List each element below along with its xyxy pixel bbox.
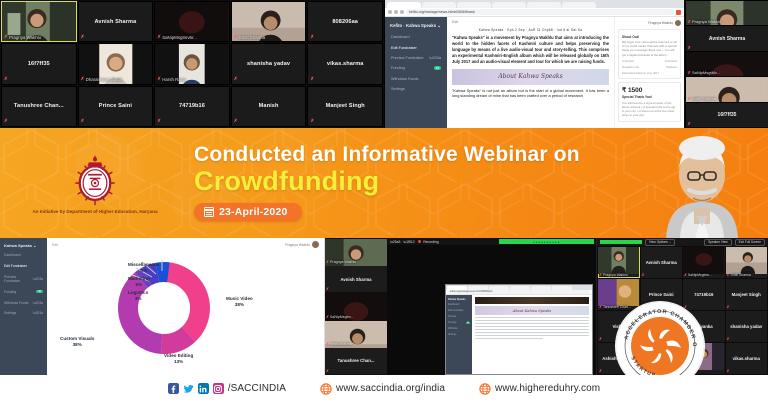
recording-indicator[interactable]: Recording: [418, 240, 439, 244]
participant-tile[interactable]: ✗ Pragnya Wakhlu: [598, 247, 640, 278]
participant-tile[interactable]: ✗ Dharamveer Singh: [78, 43, 154, 84]
view-options-button[interactable]: View Options ⌄: [645, 239, 675, 246]
fundraiser-content: Edit Kahwa Speaks · Eph 2 Sep · AoR 31 C…: [447, 17, 614, 128]
webinar-banner: An Initiative by Department of Higher Ed…: [0, 128, 768, 238]
about-banner-caption: About Kahwa Speaks: [513, 309, 552, 313]
chart-label-music-video: Music Video 38%: [226, 296, 253, 308]
sidebar-item-preview-fundraiser[interactable]: Preview Fundraiser\u203a: [385, 53, 447, 63]
participant-name: Prince Saini: [97, 103, 134, 109]
sidebar-brand[interactable]: Kefito · Kahwa Speaks ⌄: [385, 20, 447, 32]
dashboard-content: Edit Pragnya Wakhlu: [47, 238, 324, 375]
reward-body: You will become a signed poster of the a…: [622, 101, 677, 118]
fundraiser-sidebar: Kefito · Kahwa Speaks ⌄ Dashboard Edit F…: [385, 17, 447, 128]
top-screenshot-strip: ✗ Pragnya Wakhlu Avnish Sharma ✗ ✗ SaNip…: [0, 0, 768, 128]
mute-icon: ✗: [310, 34, 314, 40]
browser-tab[interactable]: [387, 2, 421, 9]
crowdfunding-browser-screenshot: kefito.org/manage/news-htmlri/508/6hash …: [384, 0, 684, 128]
reward-eta: Estimated Delivery July 2017: [622, 71, 659, 75]
sidebar-item-label: Funding: [391, 66, 405, 70]
account-menu[interactable]: Pragnya Wakhlu: [618, 20, 681, 26]
participant-name: Avnish Sharma: [92, 19, 138, 25]
sidebar-item-label: Withdraw: [448, 328, 458, 330]
participant-name: 74719b16: [177, 103, 207, 109]
participant-name: Avnish Sharma: [645, 260, 678, 265]
sidebar-item-label: Dashboard: [4, 253, 21, 257]
about-banner-image: About Kahwa Speaks: [475, 306, 589, 315]
mute-icon: ✗: [157, 118, 161, 124]
browser-address-bar[interactable]: kefito.org/manage/news-htmlri/508/6hash: [385, 8, 684, 17]
mute-icon: ✗: [599, 369, 602, 373]
participant-tile[interactable]: 16f7ff35 ✗: [1, 43, 77, 84]
url-input[interactable]: kefito.org/manage/news-htmlri/508/6hash: [406, 9, 674, 15]
about-banner-image: About Kahwa Speaks: [452, 69, 609, 85]
funding-badge: 38: [466, 322, 470, 324]
mute-icon: ✗: [727, 273, 730, 277]
linkedin-icon[interactable]: [198, 383, 209, 394]
mute-icon: ✗: [81, 118, 85, 124]
sidebar-item-label: Withdraw Funds: [391, 77, 418, 81]
sidebar-item-label: Funding: [4, 290, 16, 294]
participant-name: Pragnya Wakhlu: [9, 35, 41, 40]
edit-link[interactable]: Edit: [52, 243, 58, 247]
participant-name: Smiti Sharma: [692, 96, 716, 101]
shared-page-content: About Kahwa Speaks: [472, 295, 592, 375]
chart-label-text: Marketing: [128, 276, 150, 281]
date-pill: 23-April-2020: [194, 203, 302, 221]
participant-tile[interactable]: vikas.sharma ✗: [726, 343, 768, 374]
sidebar-item-withdraw-funds[interactable]: Withdraw Funds: [385, 74, 447, 84]
social-group: /SACCINDIA: [168, 383, 286, 394]
mute-icon: ✗: [234, 118, 238, 124]
participant-name: Pragnya Wakhlu: [603, 273, 628, 277]
mute-icon: ✗: [310, 76, 314, 82]
mute-icon: ✗: [81, 76, 85, 82]
chart-label-pct: 5%: [128, 282, 150, 288]
participant-name: Tanushree Chan...: [12, 103, 66, 109]
reward-left-label: Unlimited: [622, 59, 634, 63]
mute-icon: ✗: [599, 273, 602, 277]
participant-name: SaNipMsgtmv6r...: [162, 35, 197, 40]
about-banner-caption: About Kahwa Speaks: [498, 73, 562, 80]
mute-icon: ✗: [157, 76, 161, 82]
webinar-date: 23-April-2020: [219, 206, 288, 218]
zoom-participant-grid-top: ✗ Pragnya Wakhlu Avnish Sharma ✗ ✗ SaNip…: [0, 0, 384, 128]
website-group-1: www.saccindia.org/india: [320, 383, 445, 395]
funding-badge: 38: [434, 66, 441, 70]
banner-text-block: Conducted an Informative Webinar on Crow…: [190, 144, 636, 222]
chart-label-miscellaneous: Miscellaneous 5%: [128, 262, 159, 274]
mute-icon: ✗: [326, 315, 329, 319]
participant-tile[interactable]: ✗ Smiti Sharma: [231, 1, 307, 42]
sidebar-item-label: Funding: [448, 322, 456, 324]
website-link-2[interactable]: www.highereduhry.com: [495, 383, 600, 394]
instagram-icon[interactable]: [213, 383, 224, 394]
chart-label-text: Custom Visuals: [60, 336, 94, 341]
sidebar-item-label: Settings: [4, 311, 16, 315]
mute-icon: ✗: [688, 121, 691, 126]
participant-tile[interactable]: ✗ SaNipMsgtmv6r...: [154, 1, 230, 42]
chart-label-pct: 5%: [128, 268, 159, 274]
participant-name: Prince Saini: [648, 292, 675, 297]
mute-icon: ✗: [599, 337, 602, 341]
sidebar-item-preview-fundraiser[interactable]: Preview Fundraiser\u203a: [0, 272, 47, 287]
sidebar-item-label: Preview Fundraiser: [391, 56, 424, 60]
mute-icon: ✗: [234, 76, 238, 82]
participant-tile[interactable]: 16f7ff35 ✗: [686, 103, 768, 127]
reward-title: Special Thank You!: [622, 95, 677, 99]
account-menu[interactable]: Pragnya Wakhlu: [285, 241, 319, 248]
chart-label-custom-visuals: Custom Visuals 38%: [60, 336, 94, 348]
browser-tab[interactable]: [457, 2, 491, 9]
mute-icon: ✗: [326, 342, 329, 346]
reward-left-value: Rewards Left: [622, 65, 639, 69]
participant-name: SaNipMsgtm...: [330, 315, 354, 319]
sidebar-item-dashboard[interactable]: Dashboard: [0, 250, 47, 261]
participant-name: vikas.sharma: [732, 356, 761, 361]
banner-line-1: Conducted an Informative Webinar on: [194, 144, 636, 166]
participant-tile[interactable]: ✗ SaNipMsgtMv...: [686, 52, 768, 76]
chart-label-logistics: Logistics 3%: [128, 290, 148, 302]
participant-name: Manjeet Singh: [324, 103, 367, 109]
participant-name: Tanushree Chan...: [338, 358, 375, 363]
participant-name: Manjeet Singh: [731, 292, 762, 297]
participant-tile[interactable]: 74719b16 ✗: [154, 86, 230, 127]
browser-tab-bar[interactable]: [446, 285, 592, 290]
participant-tile[interactable]: Avnish Sharma ✗: [325, 266, 387, 292]
social-handle[interactable]: /SACCINDIA: [228, 383, 286, 394]
participant-tile[interactable]: Manish ✗: [231, 86, 307, 127]
extension-icon[interactable]: [676, 10, 681, 15]
lock-icon: \u1f512: [403, 240, 414, 244]
share-indicator: \u25a3: [390, 240, 400, 244]
sidebar-item-settings[interactable]: Settings: [385, 84, 447, 94]
mute-icon: ✗: [642, 273, 645, 277]
avatar: [312, 241, 319, 248]
reward-card[interactable]: Shout Out! Big hugs! Your name will be f…: [618, 29, 681, 79]
mute-icon: ✗: [310, 118, 314, 124]
mute-icon: ✗: [4, 76, 8, 82]
chart-label-text: Video Editing: [164, 353, 193, 358]
participant-tile[interactable]: ✗ SaNipMsgtmv...: [683, 247, 725, 278]
sidebar-item-funding[interactable]: Funding38: [0, 286, 47, 297]
participant-name: Dharamveer Singh: [86, 77, 123, 82]
browser-tab[interactable]: [422, 2, 456, 9]
mute-icon: ✗: [157, 34, 161, 40]
mute-icon: ✗: [4, 118, 8, 124]
facebook-icon[interactable]: [168, 383, 179, 394]
participant-tile[interactable]: Manjeet Singh ✗: [726, 279, 768, 310]
participant-tile[interactable]: ✗ Harsh Rana: [154, 43, 230, 84]
back-icon[interactable]: [388, 10, 392, 14]
participant-name: Pragnya Wakhlu: [330, 260, 356, 264]
budget-donut-chart: Miscellaneous 5% Marketing 5% Logistics …: [52, 248, 319, 366]
globe-icon: [320, 383, 332, 395]
mute-icon: ✗: [727, 369, 730, 373]
participant-name: SaNipMsgtmv...: [688, 273, 712, 277]
hero-image: [475, 297, 589, 304]
mute-icon: ✗: [688, 45, 691, 50]
sidebar-item-settings[interactable]: Settings\u203a: [0, 308, 47, 319]
participant-name: Manish: [257, 103, 281, 109]
banner-line-2: Crowdfunding: [194, 167, 636, 197]
mute-icon: ✗: [684, 273, 687, 277]
forward-icon[interactable]: [394, 10, 398, 14]
participant-name: Smiti Sharma: [239, 35, 265, 40]
participant-name: vikas.sharma: [325, 61, 366, 67]
participant-tile[interactable]: 808206aa ✗: [307, 1, 383, 42]
sidebar-item-label: Edit Fundraiser: [391, 46, 417, 50]
webinar-collage: ✗ Pragnya Wakhlu Avnish Sharma ✗ ✗ SaNip…: [0, 0, 768, 402]
participant-name: shanisha yadav: [245, 61, 292, 67]
sidebar-item-settings[interactable]: Settings: [446, 332, 472, 338]
participant-name: 74719b16: [693, 292, 714, 297]
document-header: Kahwa Speaks · Eph 2 Sep · AoR 31 Chp68 …: [452, 28, 609, 32]
funding-badge: 38: [36, 290, 43, 293]
browser-tab[interactable]: [492, 2, 526, 9]
mute-icon: ✗: [326, 287, 329, 291]
participant-tile[interactable]: ✗ Smiti Sharma: [325, 321, 387, 347]
edit-link[interactable]: Edit: [452, 20, 609, 24]
haryana-crest-block: An Initiative by Department of Higher Ed…: [0, 150, 190, 215]
fundraiser-sidebar: Kahwa Speaks Dashboard Edit Fundraiser P…: [446, 295, 472, 375]
participant-name: Harsh Rana: [162, 77, 185, 82]
globe-icon: [479, 383, 491, 395]
participant-name: Smiti Sharma: [330, 342, 352, 346]
mute-icon: ✗: [81, 34, 85, 40]
record-dot-icon: [418, 240, 422, 244]
reload-icon[interactable]: [400, 10, 404, 14]
participant-name: Avnish Sharma: [709, 36, 745, 42]
twitter-icon[interactable]: [183, 383, 194, 394]
screenshare-side-tiles: ✗ Pragnya Wakhlu Avnish Sharma ✗ ✗ SaNip…: [325, 238, 387, 375]
participant-tile[interactable]: ✗ Pragnya Wakhlu: [1, 1, 77, 42]
account-name: Pragnya Wakhlu: [648, 21, 673, 25]
body-text-lines: [475, 317, 589, 339]
sidebar-item-edit-fundraiser[interactable]: Edit Fundraiser: [0, 261, 47, 272]
participant-tile[interactable]: Avnish Sharma ✗: [78, 1, 154, 42]
sidebar-item-label: Edit Fundraiser: [4, 264, 27, 268]
participant-name: Smiti Sharma: [731, 273, 751, 277]
zoom-top-toolbar[interactable]: View Options ⌄ Speaker View Exit Full Sc…: [597, 238, 768, 246]
participant-name: shanisha yadav: [729, 324, 763, 329]
sidebar-item-label: Dashboard: [448, 304, 459, 306]
mute-icon: ✗: [727, 337, 730, 341]
website-group-2: www.highereduhry.com: [479, 383, 600, 395]
participant-tile[interactable]: Tanushree Chan... ✗: [325, 348, 387, 374]
rewards-column: Pragnya Wakhlu Shout Out! Big hugs! Your…: [614, 17, 684, 128]
chart-label-text: Miscellaneous: [128, 262, 159, 267]
zoom-sidebar-tiles-top: ✗ Pragnya Wakhlu Avnish Sharma ✗ ✗ SaNip…: [684, 0, 768, 128]
participant-tile[interactable]: shanisha yadav ✗: [231, 43, 307, 84]
reward-title: Shout Out!: [622, 35, 677, 39]
participant-name: SaNipMsgtMv...: [692, 70, 720, 75]
participant-tile[interactable]: ✗ Smiti Sharma: [726, 247, 768, 278]
avatar: [675, 20, 681, 26]
website-link-1[interactable]: www.saccindia.org/india: [336, 383, 445, 394]
url-input[interactable]: kefito.org/manage/news-html/508/6hash: [448, 290, 590, 293]
sidebar-brand[interactable]: Kahwa Speaks ⌄: [0, 241, 47, 250]
browser-tab-bar[interactable]: [385, 0, 684, 8]
participant-tile[interactable]: Avnish Sharma ✗: [641, 247, 683, 278]
haryana-emblem-icon: [72, 154, 118, 206]
fundraiser-paragraph-2: "Kahwa Speaks" is not just an album but …: [452, 88, 609, 99]
mute-icon: ✗: [688, 19, 691, 24]
reward-right-value: Backers: [667, 65, 677, 69]
sidebar-item-label: Settings: [448, 334, 456, 336]
mute-icon: ✗: [727, 305, 730, 309]
crest-caption: An Initiative by Department of Higher Ed…: [32, 209, 157, 215]
green-ticker: ▸ ▸ ▸ ▸ ▸ ▸ ▸ ▸ ▸ ▸: [499, 239, 594, 244]
sidebar-item-edit-fundraiser[interactable]: Edit Fundraiser: [385, 42, 447, 52]
chart-label-pct: 13%: [164, 359, 193, 365]
sidebar-item-label: Preview: [448, 316, 456, 318]
dashboard-sidebar: Kahwa Speaks ⌄ Dashboard Edit Fundraiser…: [0, 238, 47, 375]
green-ticker: [600, 240, 642, 244]
sidebar-item-withdraw-funds[interactable]: Withdraw Funds\u203a: [0, 297, 47, 308]
participant-tile[interactable]: ✗ SaNipMsgtm...: [325, 293, 387, 319]
participant-name: 16f7ff35: [718, 112, 737, 118]
browser-tab[interactable]: [527, 2, 561, 9]
participant-tile[interactable]: ✗ Pragnya Wakhlu: [325, 239, 387, 265]
sidebar-item-funding[interactable]: Funding38: [385, 63, 447, 73]
mute-icon: ✗: [234, 34, 238, 40]
portrait-illustration: [636, 128, 768, 238]
footer-bar: /SACCINDIA www.saccindia.org/india www.h…: [0, 375, 768, 402]
sidebar-item-label: Settings: [391, 87, 405, 91]
reward-amount: ₹ 1500: [622, 86, 677, 94]
chart-label-video-editing: Video Editing 13%: [164, 353, 193, 365]
chart-label-text: Music Video: [226, 296, 253, 301]
mute-icon: ✗: [326, 260, 329, 264]
mute-icon: ✗: [326, 369, 329, 373]
browser-tab[interactable]: [562, 2, 596, 9]
mute-icon: ✗: [4, 34, 8, 40]
participant-name: Pragnya Wakhlu: [692, 19, 721, 24]
speaker-portrait: [636, 128, 768, 238]
mute-icon: ✗: [688, 96, 691, 101]
participant-name: Avnish Sharma: [340, 277, 371, 282]
screenshare-toolbar[interactable]: \u25a3 \u1f512 Recording ▸ ▸ ▸ ▸ ▸ ▸ ▸ ▸…: [387, 238, 596, 245]
speaker-view-button[interactable]: Speaker View: [704, 239, 732, 246]
fundraiser-paragraph: "Kahwa Speaks" is a movement by Pragnya …: [452, 35, 609, 65]
participant-tile[interactable]: shanisha yadav ✗: [726, 311, 768, 342]
participant-name: 808206aa: [330, 19, 360, 25]
participant-tile[interactable]: Tanushree Chan... ✗: [1, 86, 77, 127]
chart-label-pct: 38%: [60, 342, 94, 348]
account-name: Pragnya Wakhlu: [285, 243, 310, 247]
participant-name: 16f7ff35: [26, 61, 52, 67]
fundraiser-dashboard-screenshot: Kahwa Speaks ⌄ Dashboard Edit Fundraiser…: [0, 238, 325, 375]
chart-label-pct: 38%: [226, 302, 253, 308]
mute-icon: ✗: [688, 70, 691, 75]
sidebar-item-label: Dashboard: [391, 35, 410, 39]
sidebar-item-label: Edit Fundraiser: [448, 310, 464, 312]
recording-label: Recording: [423, 240, 438, 244]
sidebar-item-label: Withdraw Funds: [4, 301, 29, 305]
sidebar-item-label: Preview Fundraiser: [4, 275, 33, 283]
participant-tile[interactable]: ✗ Pragnya Wakhlu: [686, 1, 768, 25]
calendar-icon: [204, 207, 214, 217]
participant-tile[interactable]: Prince Saini ✗: [78, 86, 154, 127]
reward-right-label: Unlimited: [665, 59, 677, 63]
exit-full-screen-button[interactable]: Exit Full Screen: [735, 239, 765, 246]
reward-card[interactable]: ₹ 1500 Special Thank You! You will becom…: [618, 82, 681, 122]
chart-label-marketing: Marketing 5%: [128, 276, 150, 288]
screenshare-screenshot: ✗ Pragnya Wakhlu Avnish Sharma ✗ ✗ SaNip…: [325, 238, 597, 375]
participant-tile[interactable]: Manjeet Singh ✗: [307, 86, 383, 127]
mute-icon: ✗: [599, 305, 602, 309]
chart-label-text: Logistics: [128, 290, 148, 295]
participant-tile[interactable]: Avnish Sharma ✗: [686, 26, 768, 50]
participant-tile[interactable]: ✗ Smiti Sharma: [686, 77, 768, 101]
participant-tile[interactable]: vikas.sharma ✗: [307, 43, 383, 84]
chart-label-pct: 3%: [128, 296, 148, 302]
shared-browser-window: kefito.org/manage/news-html/508/6hash Ka…: [445, 284, 593, 375]
sidebar-item-dashboard[interactable]: Dashboard: [385, 32, 447, 42]
reward-body: Big hugs! Your name will be featured on …: [622, 40, 677, 57]
